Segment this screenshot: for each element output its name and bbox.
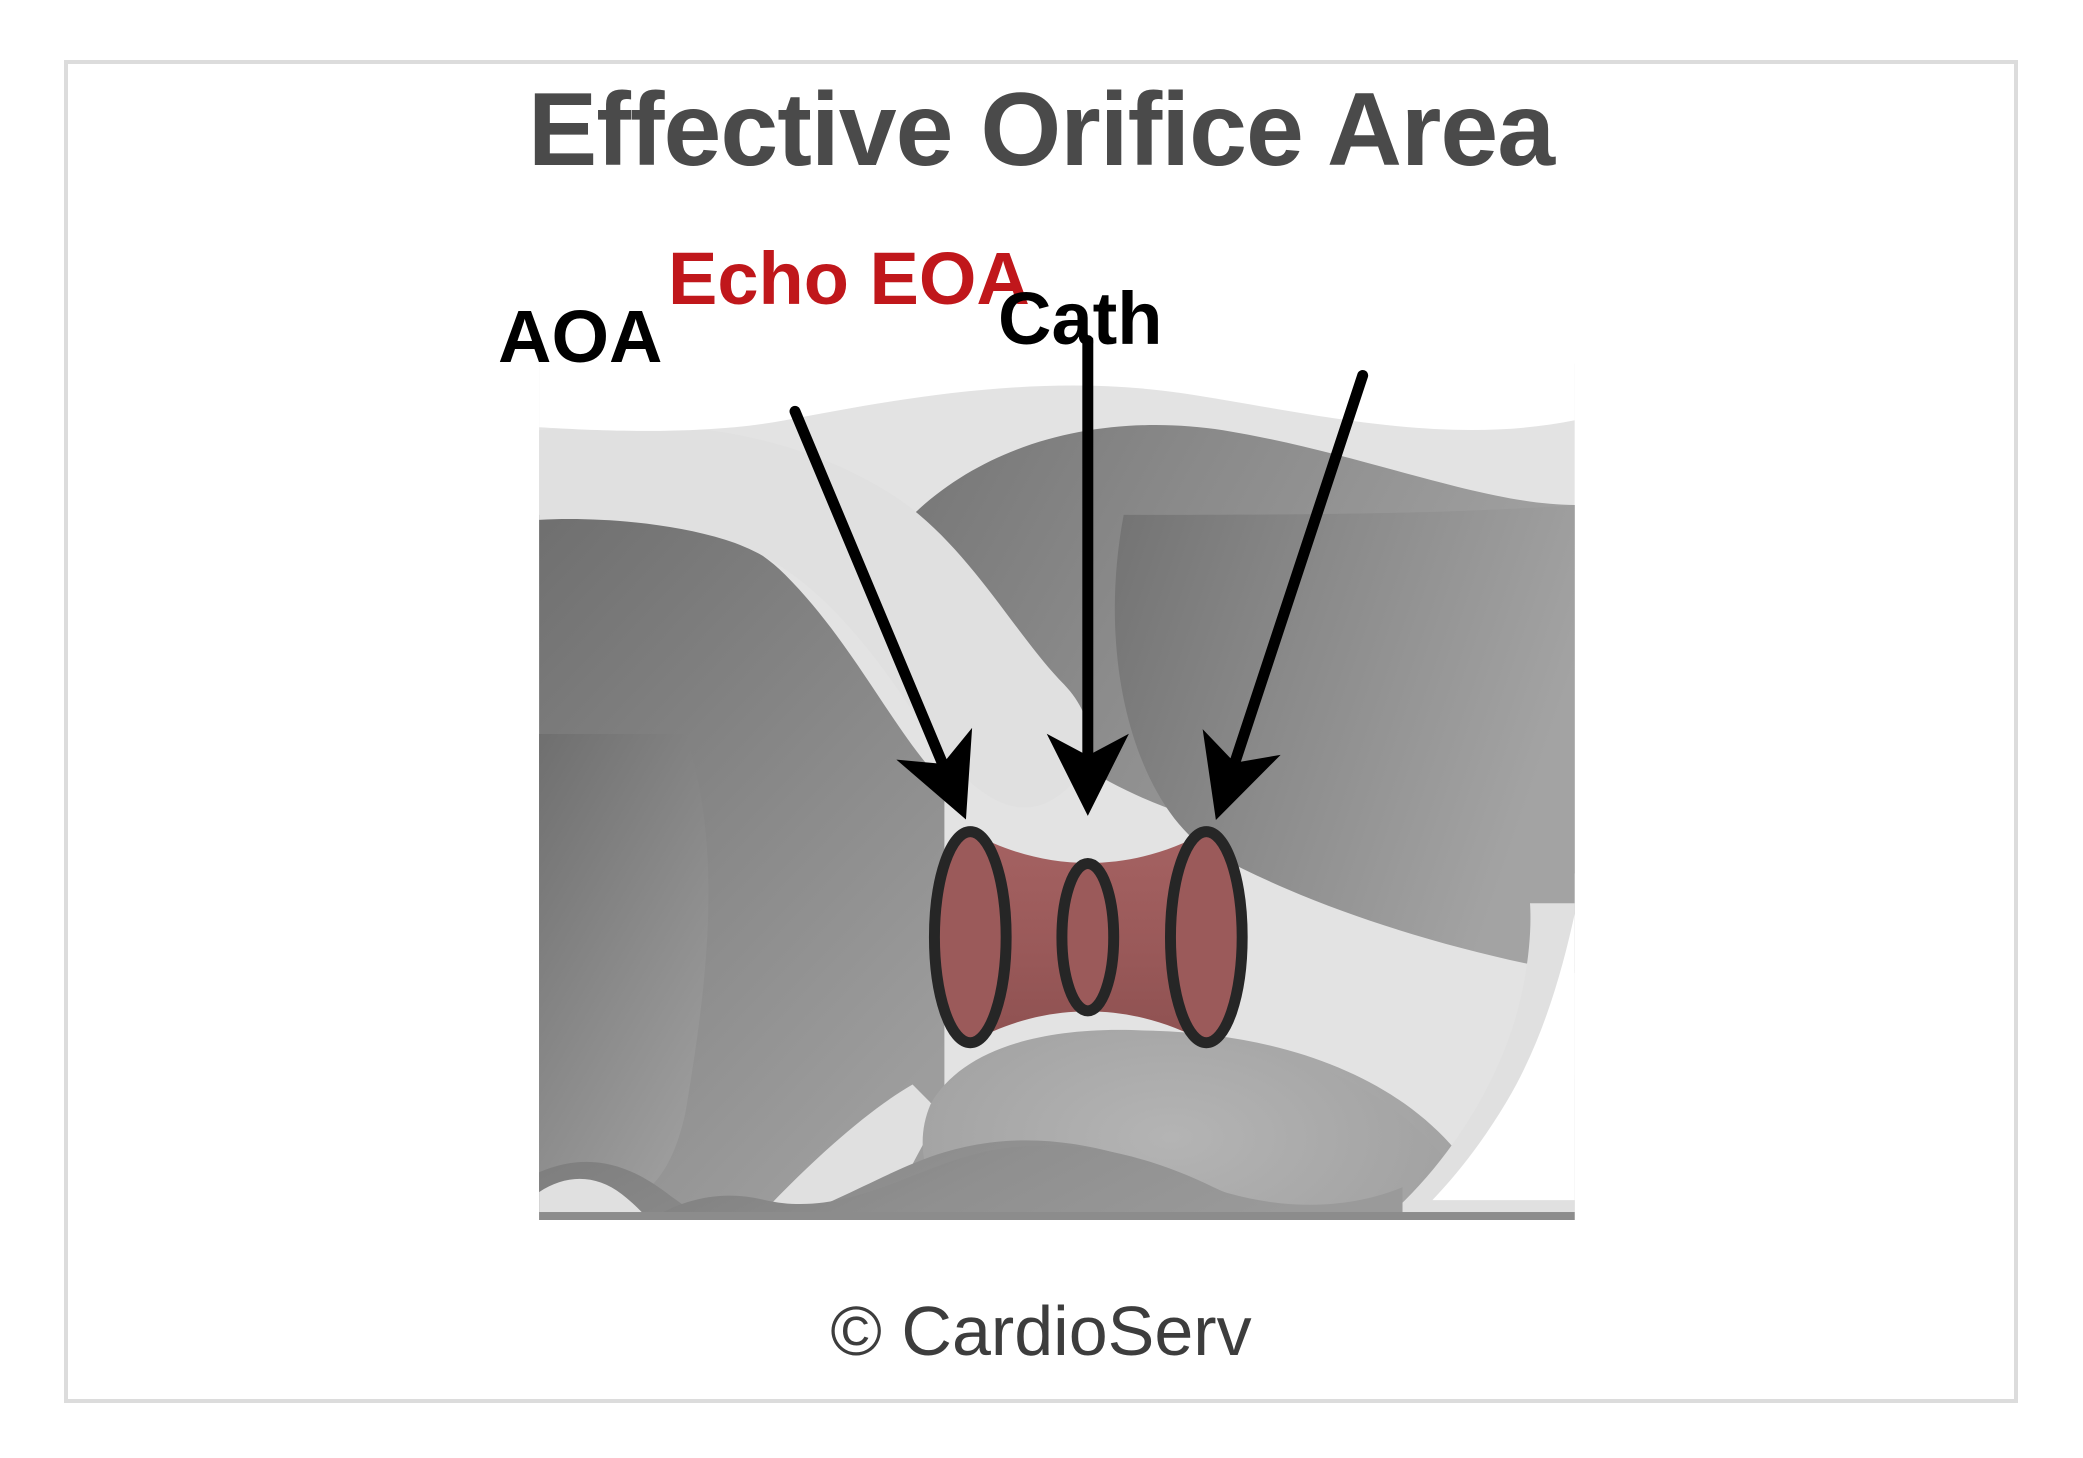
label-cath: Cath bbox=[998, 276, 1162, 361]
label-aoa: AOA bbox=[498, 294, 662, 379]
anatomy-svg bbox=[68, 214, 2014, 1254]
orifice-channel bbox=[934, 832, 1242, 1043]
anatomy-figure: AOA Echo EOA Cath bbox=[68, 214, 2014, 1254]
anatomy-panel bbox=[539, 364, 1575, 1254]
label-echo-eoa: Echo EOA bbox=[668, 236, 1030, 321]
center-ellipse bbox=[1062, 863, 1114, 1010]
right-ellipse bbox=[1170, 832, 1242, 1043]
screenshot-root: Effective Orifice Area bbox=[0, 0, 2083, 1458]
left-ellipse bbox=[934, 832, 1006, 1043]
bottom-tissue bbox=[539, 1220, 1575, 1222]
copyright-caption: © CardioServ bbox=[68, 1291, 2014, 1371]
page-title: Effective Orifice Area bbox=[68, 76, 2014, 185]
panel-bottom-fill bbox=[539, 1212, 1575, 1222]
figure-card: Effective Orifice Area bbox=[64, 60, 2018, 1403]
